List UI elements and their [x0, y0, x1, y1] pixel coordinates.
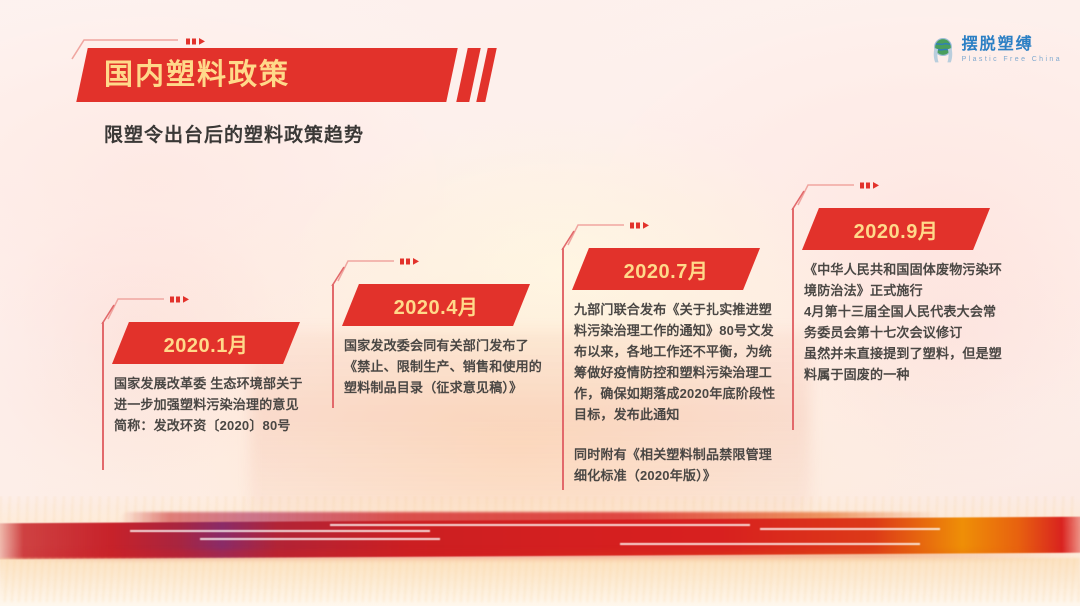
card-date-label: 2020.4月: [342, 284, 530, 326]
page-title: 国内塑料政策: [104, 54, 290, 96]
timeline-card[interactable]: 2020.4月 国家发改委会同有关部门发布了《禁止、限制生产、销售和使用的塑料制…: [332, 284, 548, 398]
card-paragraph: 国家发展改革委 生态环境部关于: [114, 373, 318, 394]
brand-name-cn: 摆脱塑缚: [962, 37, 1062, 53]
card-body: 国家发展改革委 生态环境部关于 进一步加强塑料污染治理的意见 简称：发改环资〔2…: [114, 373, 318, 436]
card-header: 2020.4月: [342, 284, 530, 326]
brush-texture-bottom: [0, 558, 1080, 602]
card-body: 《中华人民共和国固体废物污染环境防治法》正式施行 4月第十三届全国人民代表大会常…: [804, 259, 1008, 385]
card-rail: [332, 284, 334, 408]
card-paragraph: 虽然并未直接提到了塑料，但是塑料属于固废的一种: [804, 343, 1008, 385]
card-header: 2020.1月: [112, 322, 300, 364]
card-paragraph: 《中华人民共和国固体废物污染环境防治法》正式施行: [804, 259, 1008, 301]
card-paragraph: 九部门联合发布《关于扎实推进塑料污染治理工作的通知》80号文发布以来，各地工作还…: [574, 299, 778, 425]
brush-streak: [620, 543, 920, 545]
card-paragraph: 简称：发改环资〔2020〕80号: [114, 415, 318, 436]
timeline-card[interactable]: 2020.1月 国家发展改革委 生态环境部关于 进一步加强塑料污染治理的意见 简…: [102, 322, 318, 436]
card-header: 2020.7月: [572, 248, 760, 290]
card-body: 国家发改委会同有关部门发布了《禁止、限制生产、销售和使用的塑料制品目录（征求意见…: [344, 335, 548, 398]
card-rail: [792, 208, 794, 430]
brush-streak: [330, 524, 750, 526]
brush-streak: [200, 538, 440, 540]
brand-name-en: Plastic Free China: [962, 56, 1062, 63]
slide-canvas: 国内塑料政策 限塑令出台后的塑料政策趋势 摆脱塑缚 Plastic Free C…: [0, 0, 1080, 606]
card-header: 2020.9月: [802, 208, 990, 250]
card-rail: [102, 322, 104, 470]
card-date-label: 2020.9月: [802, 208, 990, 250]
card-paragraph: 进一步加强塑料污染治理的意见: [114, 394, 318, 415]
card-paragraph: 国家发改委会同有关部门发布了《禁止、限制生产、销售和使用的塑料制品目录（征求意见…: [344, 335, 548, 398]
title-block: 国内塑料政策 限塑令出台后的塑料政策趋势: [70, 38, 500, 158]
timeline-card[interactable]: 2020.7月 九部门联合发布《关于扎实推进塑料污染治理工作的通知》80号文发布…: [562, 248, 778, 486]
bottom-brush-band: [0, 496, 1080, 606]
page-subtitle: 限塑令出台后的塑料政策趋势: [104, 120, 364, 147]
card-paragraph: 4月第十三届全国人民代表大会常务委员会第十七次会议修订: [804, 301, 1008, 343]
globe-logo-icon: [930, 36, 956, 64]
card-date-label: 2020.1月: [112, 322, 300, 364]
card-rail-elbow: [331, 266, 353, 286]
card-date-label: 2020.7月: [572, 248, 760, 290]
title-slash-2: [476, 48, 496, 102]
brush-streak: [130, 530, 430, 532]
card-rail: [562, 248, 564, 490]
brush-streak: [760, 528, 940, 530]
card-paragraph: 同时附有《相关塑料制品禁限管理细化标准（2020年版）》: [574, 444, 778, 486]
card-rail-elbow: [101, 304, 123, 324]
timeline-card[interactable]: 2020.9月 《中华人民共和国固体废物污染环境防治法》正式施行 4月第十三届全…: [792, 208, 1008, 385]
card-body: 九部门联合发布《关于扎实推进塑料污染治理工作的通知》80号文发布以来，各地工作还…: [574, 299, 778, 486]
card-rail-elbow: [561, 230, 583, 250]
brand-logo: 摆脱塑缚 Plastic Free China: [930, 36, 1062, 64]
card-rail-elbow: [791, 190, 813, 210]
brand-logo-text: 摆脱塑缚 Plastic Free China: [962, 37, 1062, 63]
